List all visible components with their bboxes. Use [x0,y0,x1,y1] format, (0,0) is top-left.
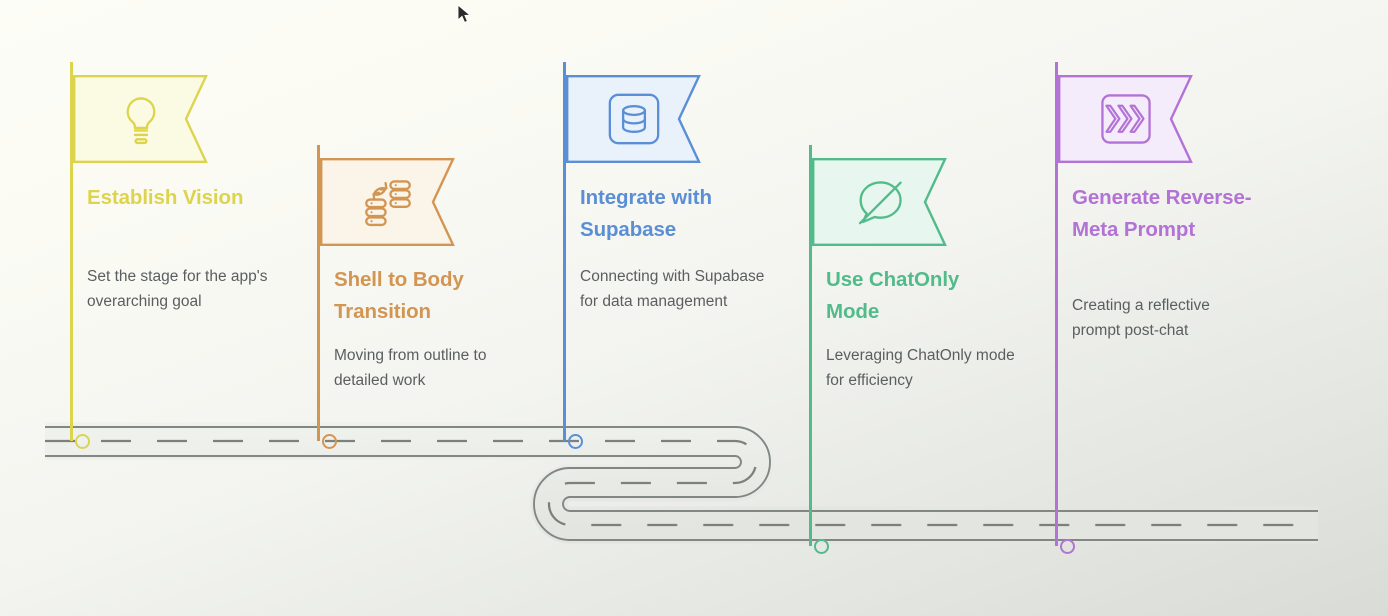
milestone-generate-reverse-meta-prompt[interactable]: Generate Reverse-Meta PromptCreating a r… [1055,0,1255,616]
milestone-title: Use ChatOnly Mode [826,264,1011,329]
chevrons-forward-icon [1058,75,1215,163]
database-icon [566,75,723,163]
milestone-road-marker[interactable] [1060,539,1075,554]
mouse-pointer-icon [457,4,473,26]
milestone-title: Integrate with Supabase [580,182,765,247]
milestone-title: Generate Reverse-Meta Prompt [1072,182,1257,247]
lightbulb-icon [73,75,230,163]
milestone-description: Moving from outline to detailed work [334,343,524,393]
chat-off-icon [812,158,969,246]
milestone-shell-to-body-transition[interactable]: Shell to Body TransitionMoving from outl… [317,0,517,616]
milestone-use-chatonly-mode[interactable]: Use ChatOnly ModeLeveraging ChatOnly mod… [809,0,1009,616]
milestone-road-marker[interactable] [75,434,90,449]
milestone-description: Connecting with Supabase for data manage… [580,264,770,314]
milestone-description: Creating a reflective prompt post-chat [1072,293,1262,343]
milestone-title: Shell to Body Transition [334,264,519,329]
milestone-road-marker[interactable] [568,434,583,449]
milestone-title: Establish Vision [87,182,272,214]
milestone-establish-vision[interactable]: Establish VisionSet the stage for the ap… [70,0,270,616]
data-migration-icon [320,158,477,246]
milestone-integrate-with-supabase[interactable]: Integrate with SupabaseConnecting with S… [563,0,763,616]
milestone-road-marker[interactable] [814,539,829,554]
milestone-road-marker[interactable] [322,434,337,449]
milestone-description: Set the stage for the app's overarching … [87,264,277,314]
milestone-description: Leveraging ChatOnly mode for efficiency [826,343,1016,393]
timeline-diagram: Establish VisionSet the stage for the ap… [0,0,1388,616]
